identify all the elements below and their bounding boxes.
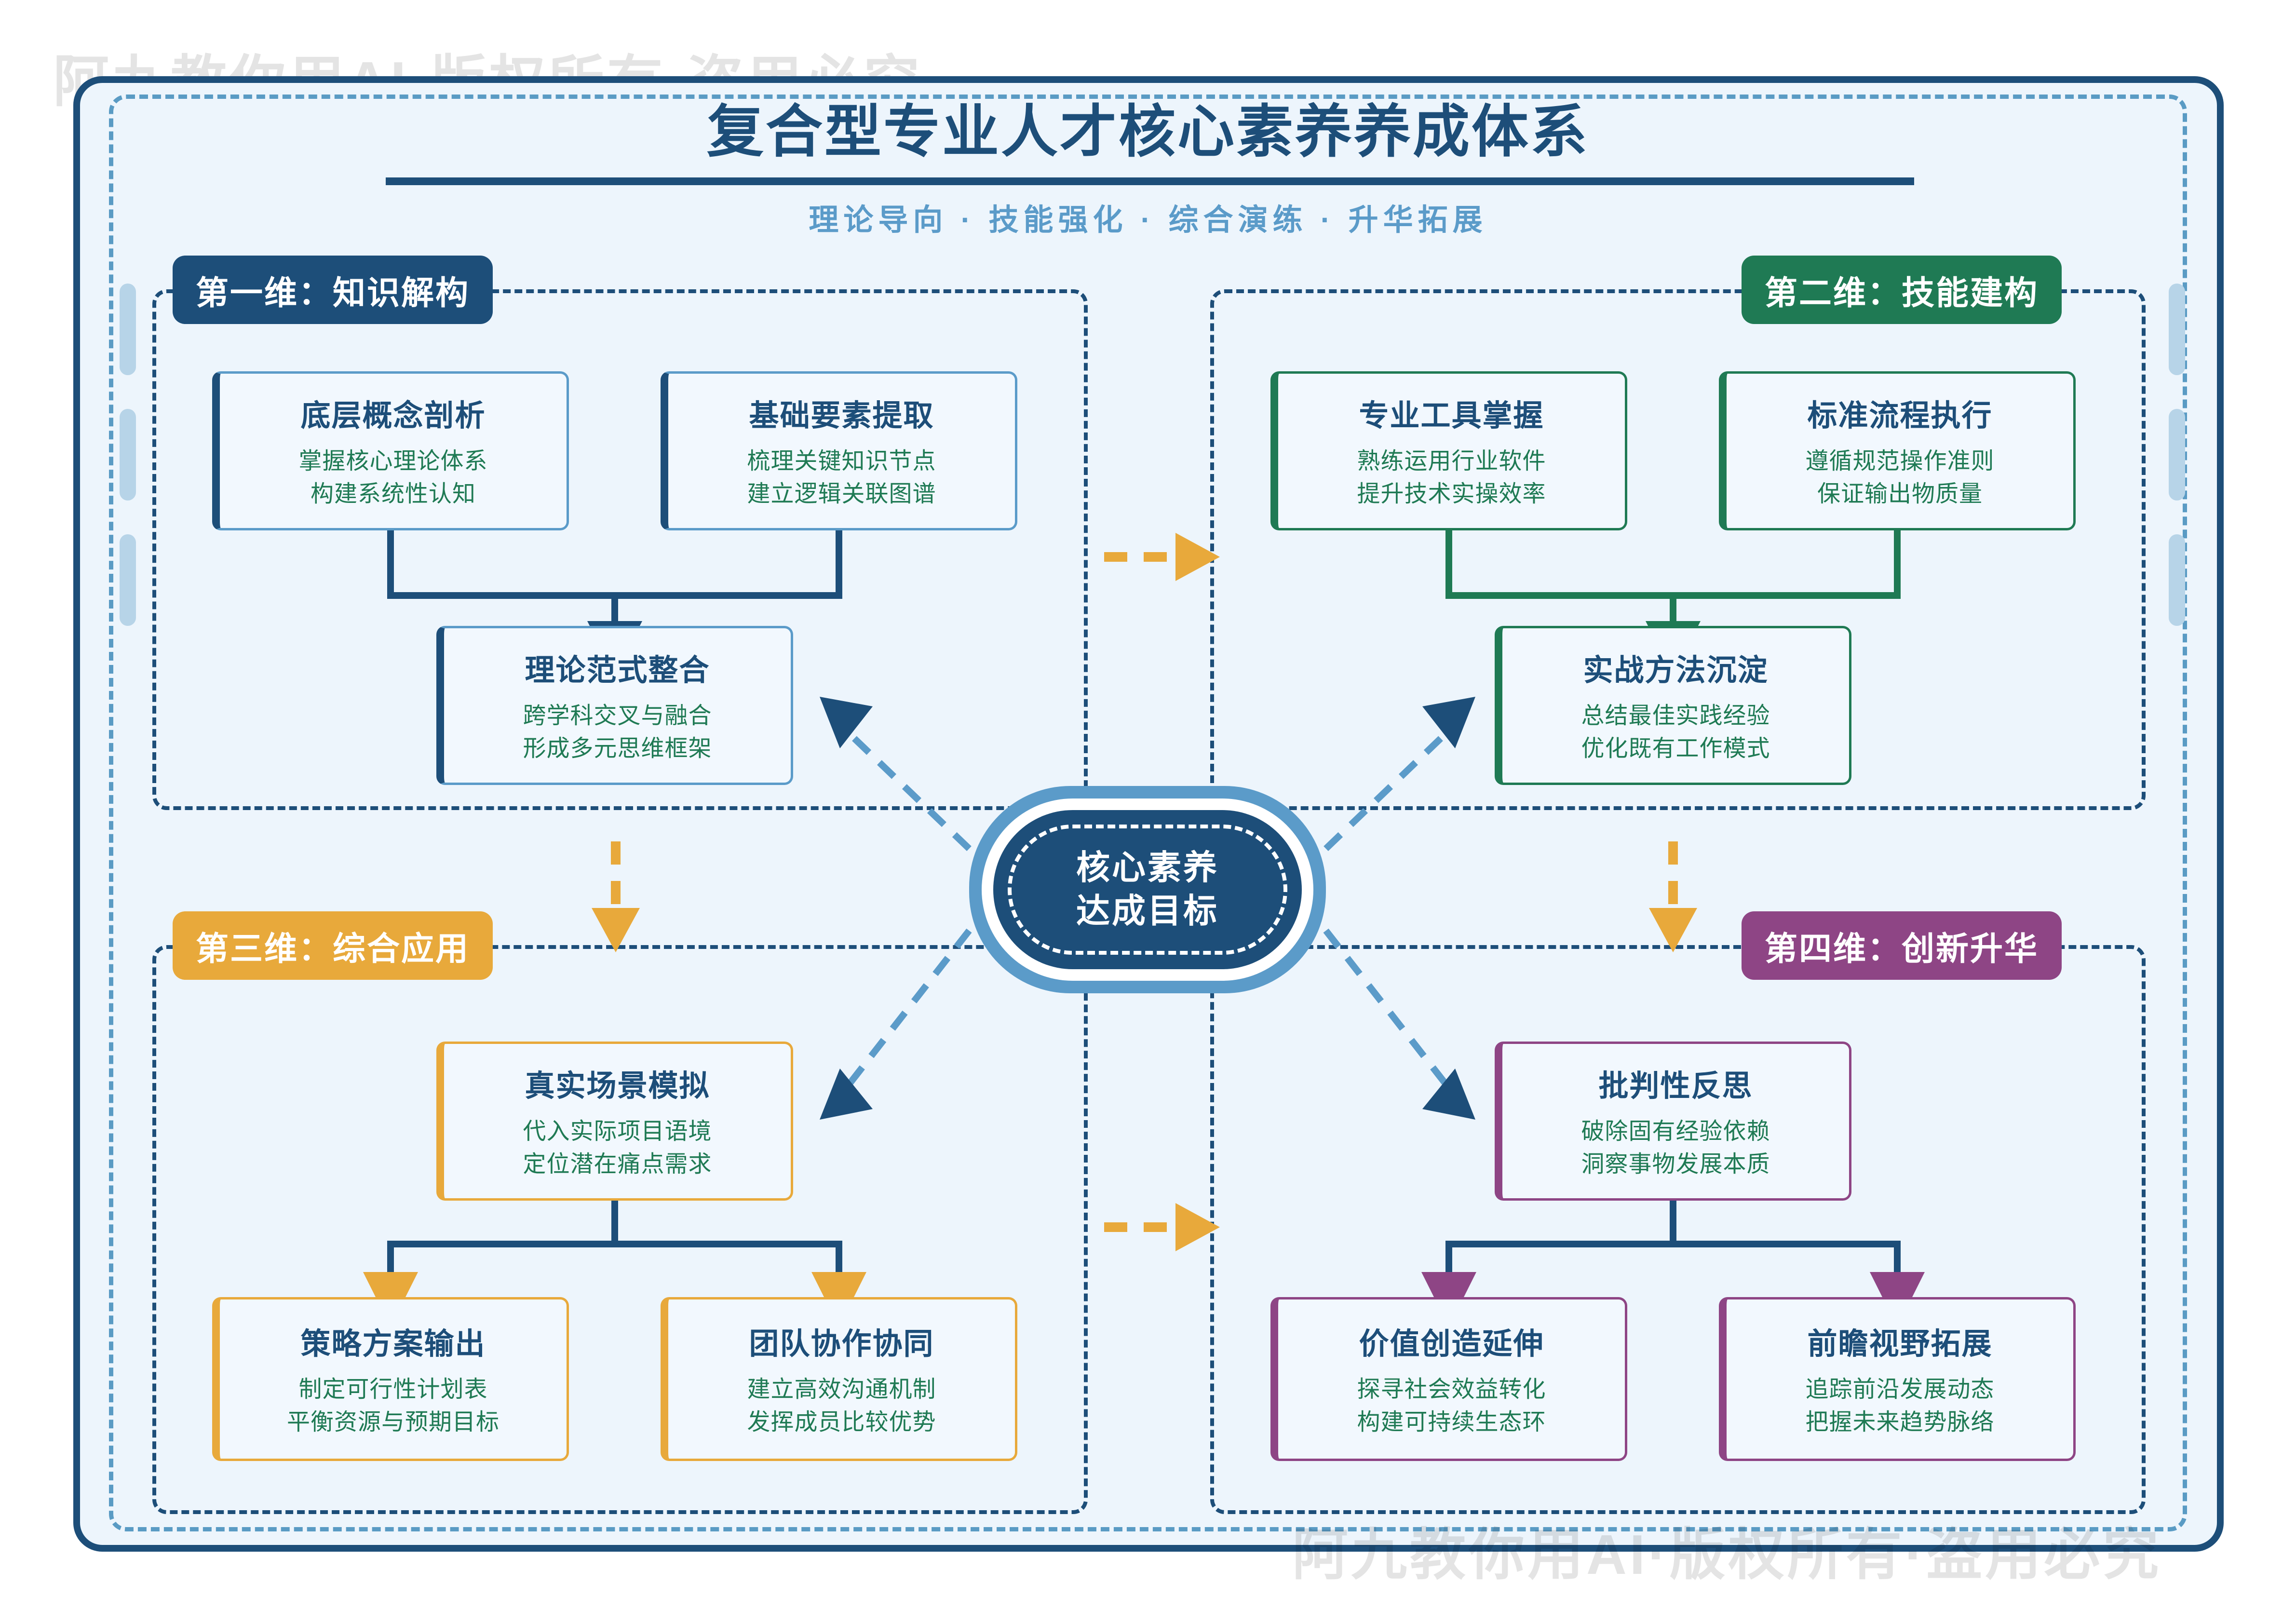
node-title: 前瞻视野拓展 (1807, 1319, 1992, 1363)
node-title: 真实场景模拟 (525, 1061, 710, 1105)
quadrant-2-chip[interactable]: 第二维：技能建构 (1742, 256, 2062, 324)
node-line: 平衡资源与预期目标 (287, 1406, 500, 1439)
core-hub-ring: 核心素养 达成目标 (982, 798, 1313, 981)
node-card-q2-1[interactable]: 专业工具掌握 熟练运用行业软件 提升技术实操效率 (1270, 371, 1627, 530)
node-card-q3-3[interactable]: 团队协作协同 建立高效沟通机制 发挥成员比较优势 (661, 1297, 1017, 1461)
node-title: 专业工具掌握 (1359, 391, 1544, 434)
node-line: 形成多元思维框架 (523, 732, 712, 765)
node-card-q1-2[interactable]: 基础要素提取 梳理关键知识节点 建立逻辑关联图谱 (661, 371, 1017, 530)
node-title: 标准流程执行 (1807, 391, 1992, 434)
node-title: 团队协作协同 (749, 1319, 934, 1363)
node-title: 底层概念剖析 (300, 391, 486, 434)
node-title: 策略方案输出 (300, 1319, 486, 1363)
node-title: 价值创造延伸 (1359, 1319, 1544, 1363)
core-hub-line2: 达成目标 (1076, 890, 1219, 933)
node-title: 实战方法沉淀 (1583, 646, 1768, 689)
quadrant-4-chip[interactable]: 第四维：创新升华 (1742, 911, 2062, 980)
left-pill-1 (120, 284, 136, 375)
node-line: 发挥成员比较优势 (747, 1406, 936, 1439)
node-line: 熟练运用行业软件 (1357, 445, 1546, 478)
node-line: 制定可行性计划表 (298, 1373, 487, 1406)
node-line: 构建系统性认知 (311, 478, 476, 511)
node-line: 建立逻辑关联图谱 (747, 478, 936, 511)
core-hub-label: 核心素养 达成目标 (1076, 846, 1219, 933)
node-title: 批判性反思 (1598, 1061, 1753, 1105)
node-card-q2-3[interactable]: 实战方法沉淀 总结最佳实践经验 优化既有工作模式 (1495, 626, 1851, 785)
right-pill-2 (2169, 409, 2185, 501)
left-pill-2 (120, 409, 136, 501)
page-title: 复合型专业人才核心素养养成体系 (0, 101, 2296, 164)
node-line: 优化既有工作模式 (1581, 732, 1770, 765)
title-rule (386, 177, 1914, 185)
node-line: 遵循规范操作准则 (1805, 445, 1994, 478)
node-card-q3-1[interactable]: 真实场景模拟 代入实际项目语境 定位潜在痛点需求 (436, 1042, 793, 1201)
quadrant-1-chip[interactable]: 第一维：知识解构 (173, 256, 493, 324)
node-card-q4-3[interactable]: 前瞻视野拓展 追踪前沿发展动态 把握未来趋势脉络 (1719, 1297, 2076, 1461)
node-line: 构建可持续生态环 (1357, 1406, 1546, 1439)
node-line: 提升技术实操效率 (1357, 478, 1546, 511)
node-card-q4-1[interactable]: 批判性反思 破除固有经验依赖 洞察事物发展本质 (1495, 1042, 1851, 1201)
node-card-q4-2[interactable]: 价值创造延伸 探寻社会效益转化 构建可持续生态环 (1270, 1297, 1627, 1461)
node-line: 建立高效沟通机制 (747, 1373, 936, 1406)
left-pill-3 (120, 534, 136, 626)
node-title: 理论范式整合 (525, 646, 710, 689)
node-line: 破除固有经验依赖 (1581, 1115, 1770, 1148)
node-line: 梳理关键知识节点 (747, 445, 936, 478)
page-subtitle: 理论导向 · 技能强化 · 综合演练 · 升华拓展 (0, 195, 2296, 239)
node-line: 定位潜在痛点需求 (523, 1148, 712, 1181)
diagram-canvas: 阿九教你用AI·版权所有·盗用必究 复合型专业人才核心素养养成体系 理论导向 ·… (0, 0, 2296, 1624)
header-block: 复合型专业人才核心素养养成体系 (0, 101, 2296, 164)
node-line: 探寻社会效益转化 (1357, 1373, 1546, 1406)
node-line: 掌握核心理论体系 (298, 445, 487, 478)
node-line: 追踪前沿发展动态 (1805, 1373, 1994, 1406)
node-line: 代入实际项目语境 (523, 1115, 712, 1148)
node-line: 洞察事物发展本质 (1581, 1148, 1770, 1181)
core-hub[interactable]: 核心素养 达成目标 (969, 786, 1326, 993)
core-hub-line1: 核心素养 (1076, 846, 1219, 890)
right-pill-3 (2169, 534, 2185, 626)
right-pill-1 (2169, 284, 2185, 375)
node-card-q2-2[interactable]: 标准流程执行 遵循规范操作准则 保证输出物质量 (1719, 371, 2076, 530)
node-line: 跨学科交叉与融合 (523, 700, 712, 732)
core-hub-inner: 核心素养 达成目标 (993, 810, 1302, 969)
node-card-q3-2[interactable]: 策略方案输出 制定可行性计划表 平衡资源与预期目标 (212, 1297, 569, 1461)
node-line: 保证输出物质量 (1817, 478, 1983, 511)
node-title: 基础要素提取 (749, 391, 934, 434)
node-line: 把握未来趋势脉络 (1805, 1406, 1994, 1439)
node-card-q1-1[interactable]: 底层概念剖析 掌握核心理论体系 构建系统性认知 (212, 371, 569, 530)
quadrant-3-chip[interactable]: 第三维：综合应用 (173, 911, 493, 980)
node-card-q1-3[interactable]: 理论范式整合 跨学科交叉与融合 形成多元思维框架 (436, 626, 793, 785)
node-line: 总结最佳实践经验 (1581, 700, 1770, 732)
